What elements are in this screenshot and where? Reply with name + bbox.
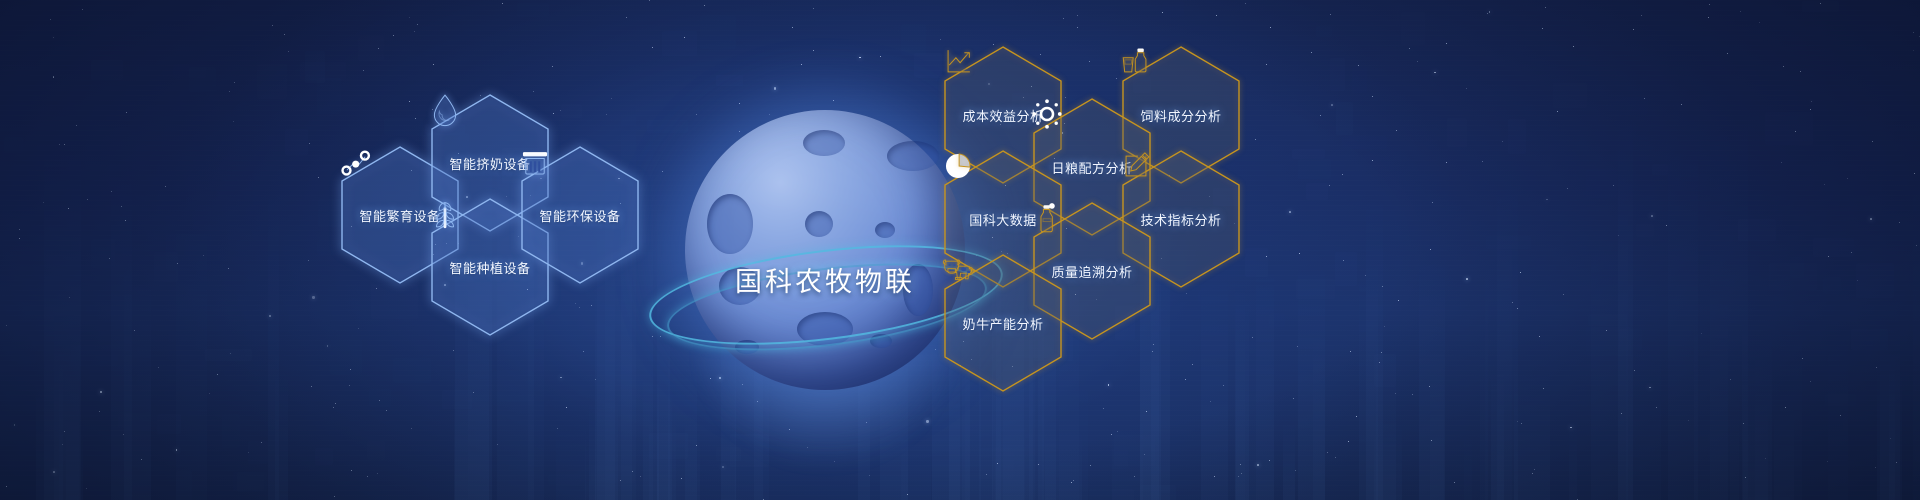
milk-bottle-glass-icon <box>1119 45 1153 79</box>
hex-label: 国科大数据 <box>969 210 1037 229</box>
pie-chart-icon <box>941 149 975 183</box>
sun-icon <box>1030 97 1064 131</box>
page-title: 国科农牧物联 <box>660 260 990 299</box>
water-drop-icon <box>428 93 462 127</box>
hex-label: 奶牛产能分析 <box>962 314 1043 333</box>
plant-sprout-icon <box>428 197 462 231</box>
hex-eco[interactable]: 智能环保设备 <box>518 145 642 285</box>
hero-banner: 国科农牧物联 智能繁育设备 <box>0 0 1920 500</box>
pencil-edit-icon <box>1119 149 1153 183</box>
milk-bottle-icon <box>1030 201 1064 235</box>
network-node-icon <box>338 145 372 179</box>
trash-bin-icon <box>518 145 552 179</box>
line-chart-icon <box>941 45 975 79</box>
hex-label: 智能环保设备 <box>539 206 620 225</box>
